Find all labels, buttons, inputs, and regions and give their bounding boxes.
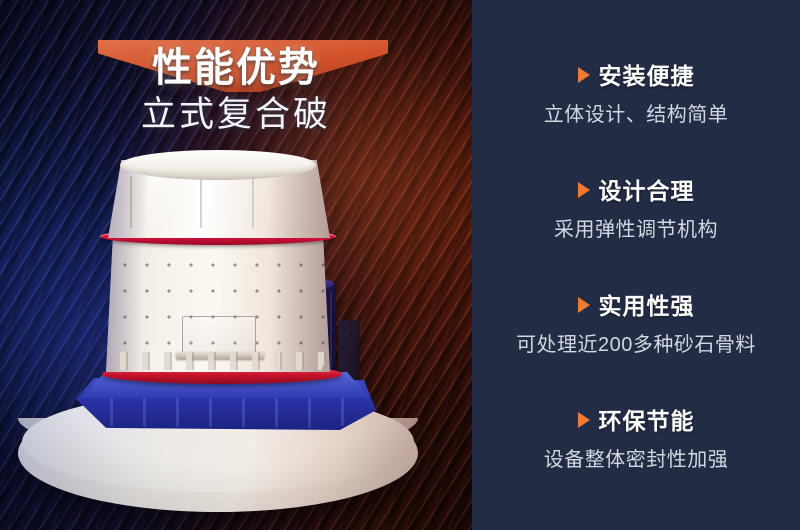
hood-top-cap — [120, 150, 316, 180]
promo-banner-root: 性能优势 立式复合破 安装便捷 立体设计、结构简单 设计合理 采用弹性调节机构 … — [0, 0, 800, 530]
features-panel: 安装便捷 立体设计、结构简单 设计合理 采用弹性调节机构 实用性强 可处理近20… — [472, 0, 800, 530]
feature-heading-2: 设计合理 — [472, 172, 800, 206]
feature-title-2: 设计合理 — [599, 172, 695, 206]
feature-heading-3: 实用性强 — [472, 287, 800, 321]
triangle-bullet-icon — [578, 412, 590, 428]
hood-seam-3 — [252, 172, 254, 228]
hero-title-sub: 立式复合破 — [0, 86, 472, 137]
feature-title-3: 实用性强 — [599, 287, 695, 321]
feature-item-2: 设计合理 采用弹性调节机构 — [472, 172, 800, 242]
feature-desc-3: 可处理近200多种砂石骨料 — [472, 328, 800, 357]
hood-seam-1 — [130, 176, 132, 228]
triangle-bullet-icon — [578, 182, 590, 198]
feature-title-1: 安装便捷 — [599, 57, 695, 91]
feature-desc-4: 设备整体密封性加强 — [472, 443, 800, 472]
feature-item-3: 实用性强 可处理近200多种砂石骨料 — [472, 287, 800, 357]
feature-title-4: 环保节能 — [599, 402, 695, 436]
hero-title-main: 性能优势 — [0, 35, 472, 93]
feature-item-1: 安装便捷 立体设计、结构简单 — [472, 57, 800, 127]
skirt-gussets — [106, 352, 330, 370]
triangle-bullet-icon — [578, 67, 590, 83]
triangle-bullet-icon — [578, 297, 590, 313]
feature-heading-1: 安装便捷 — [472, 57, 800, 91]
feature-heading-4: 环保节能 — [472, 402, 800, 436]
hero-panel: 性能优势 立式复合破 — [0, 0, 472, 530]
feature-item-4: 环保节能 设备整体密封性加强 — [472, 402, 800, 472]
inspection-hatch — [182, 316, 256, 354]
feature-desc-1: 立体设计、结构简单 — [472, 98, 800, 127]
feature-desc-2: 采用弹性调节机构 — [472, 213, 800, 242]
